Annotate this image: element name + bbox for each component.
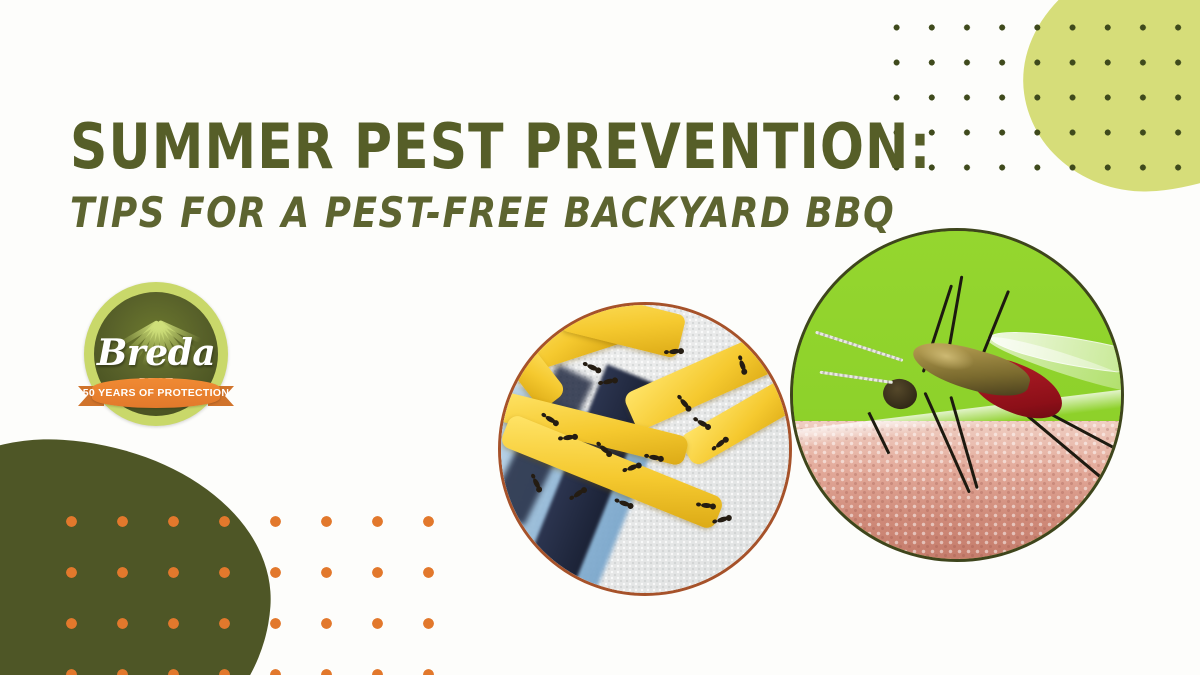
logo-brand-script: Breda — [94, 332, 218, 374]
banner-canvas: SUMMER PEST PREVENTION: TIPS FOR A PEST-… — [0, 0, 1200, 675]
photo-mosquito-biting-skin — [790, 228, 1124, 562]
ribbon-label: 50 YEARS OF PROTECTION — [83, 387, 229, 399]
ants-photo-scene — [501, 305, 789, 593]
ribbon-band: 50 YEARS OF PROTECTION — [92, 378, 220, 408]
ant — [669, 348, 681, 354]
page-title: SUMMER PEST PREVENTION: — [70, 116, 842, 178]
photo-ants-on-french-fries — [498, 302, 792, 596]
headline-block: SUMMER PEST PREVENTION: TIPS FOR A PEST-… — [70, 116, 900, 234]
orange-dot-grid — [40, 490, 460, 675]
breda-logo[interactable]: Breda PEST MANAGEMENT 50 YEARS OF PROTEC… — [78, 282, 234, 430]
mosquito-photo-scene — [793, 231, 1121, 559]
logo-ribbon: 50 YEARS OF PROTECTION — [78, 378, 234, 412]
page-subtitle: TIPS FOR A PEST-FREE BACKYARD BBQ — [70, 192, 859, 234]
